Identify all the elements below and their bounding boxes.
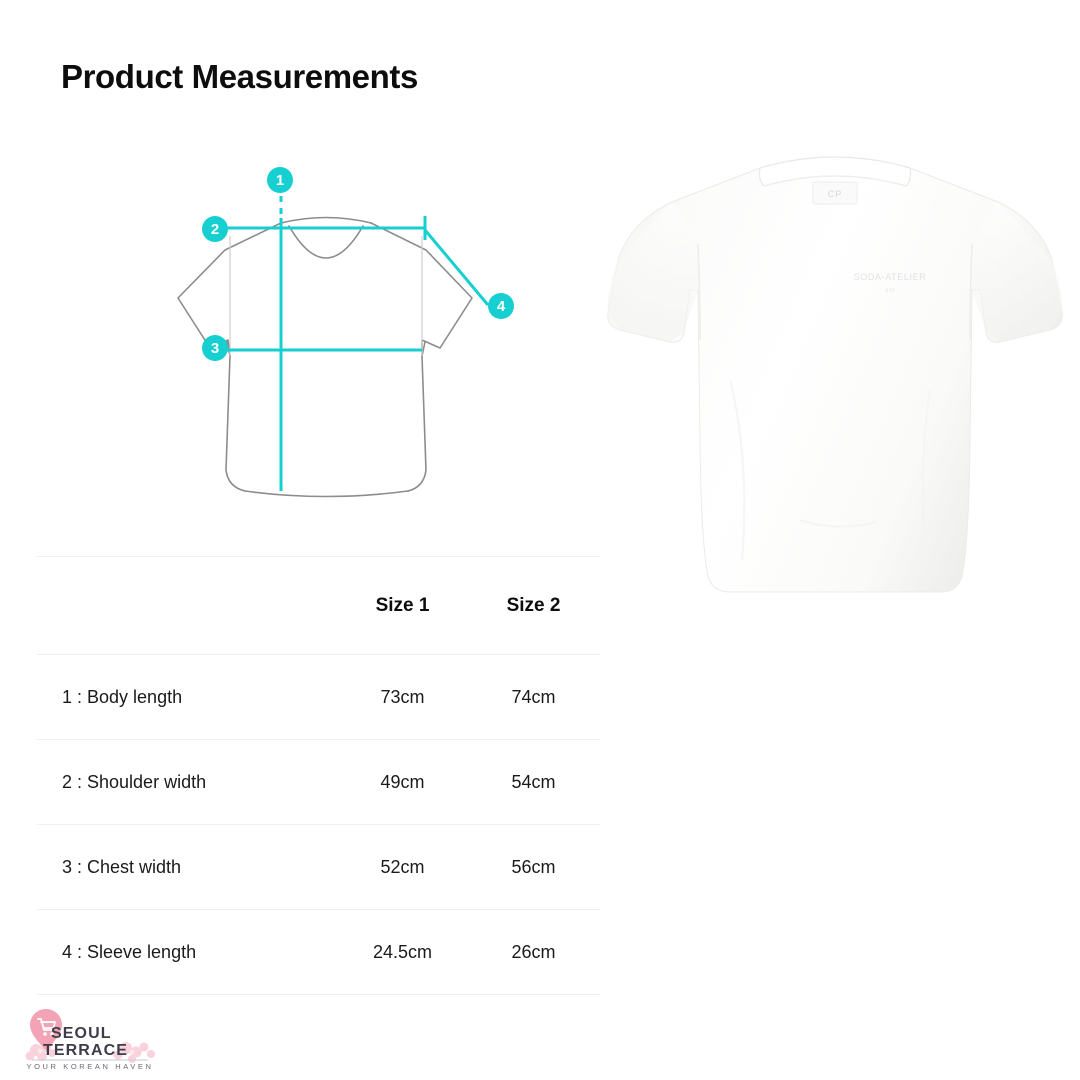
marker-1-label: 1: [276, 172, 284, 189]
logo-brand-line-1: SEOUL: [51, 1025, 112, 1042]
row-size-1-value: 24.5cm: [337, 942, 468, 963]
table-row: 3 : Chest width 52cm 56cm: [37, 825, 600, 910]
marker-4-label: 4: [497, 298, 506, 315]
marker-3-label: 3: [211, 340, 219, 357]
row-label: 1 : Body length: [37, 687, 337, 708]
marker-2-label: 2: [211, 221, 219, 238]
row-size-2-value: 26cm: [468, 942, 599, 963]
row-size-2-value: 54cm: [468, 772, 599, 793]
marker-3: 3: [202, 335, 228, 361]
table-row: 2 : Shoulder width 49cm 54cm: [37, 740, 600, 825]
row-label: 2 : Shoulder width: [37, 772, 337, 793]
chest-print-line-2: est: [885, 288, 895, 294]
header-cell-size-1: Size 1: [337, 595, 468, 617]
marker-4: 4: [488, 293, 514, 319]
table-row: 1 : Body length 73cm 74cm: [37, 655, 600, 740]
measurements-table: Size 1 Size 2 1 : Body length 73cm 74cm …: [37, 556, 600, 995]
neck-label: CP: [813, 182, 857, 204]
neck-label-text: CP: [828, 189, 843, 199]
logo-brand-line-2: TERRACE: [43, 1042, 128, 1059]
measurement-diagram: 1 2 3 4: [150, 150, 550, 520]
header-cell-size-2: Size 2: [468, 595, 599, 617]
table-header-row: Size 1 Size 2: [37, 556, 600, 655]
row-size-2-value: 56cm: [468, 857, 599, 878]
product-photo: CP SODA-ATELIER est: [600, 140, 1070, 610]
logo-tagline: YOUR KOREAN HAVEN: [27, 1062, 154, 1071]
tshirt-photo-silhouette: [608, 157, 1063, 592]
marker-2: 2: [202, 216, 228, 242]
seoul-terrace-logo: SEOUL TERRACE YOUR KOREAN HAVEN: [14, 1003, 166, 1073]
side-seam-guides: [230, 236, 422, 356]
table-row: 4 : Sleeve length 24.5cm 26cm: [37, 910, 600, 995]
row-label: 4 : Sleeve length: [37, 942, 337, 963]
sleeve-length-line: [425, 230, 488, 305]
marker-1: 1: [267, 167, 293, 193]
row-label: 3 : Chest width: [37, 857, 337, 878]
chest-print-line-1: SODA-ATELIER: [854, 272, 927, 282]
page-title: Product Measurements: [61, 58, 418, 96]
row-size-1-value: 52cm: [337, 857, 468, 878]
row-size-1-value: 73cm: [337, 687, 468, 708]
row-size-1-value: 49cm: [337, 772, 468, 793]
row-size-2-value: 74cm: [468, 687, 599, 708]
